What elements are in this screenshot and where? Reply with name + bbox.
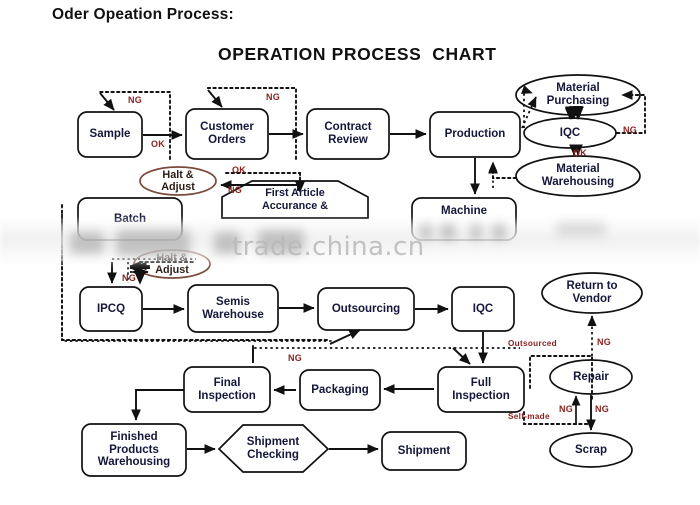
edge-label-ng-customer: NG	[266, 92, 280, 102]
node-halt-adjust-first-article[interactable]: Halt &Adjust	[140, 167, 216, 195]
edge-label-ng-scrap: NG	[595, 404, 609, 414]
node-shipment[interactable]: Shipment	[382, 432, 466, 470]
edge-label-ng-ipcq: NG	[122, 273, 136, 283]
node-packaging[interactable]: Packaging	[300, 370, 380, 410]
node-ipcq[interactable]: IPCQ	[80, 287, 142, 331]
node-iqc-mid[interactable]: IQC	[452, 287, 514, 331]
edge-label-ng-return-vendor: NG	[597, 337, 611, 347]
node-first-article[interactable]: First ArticleAccurance &	[224, 181, 366, 218]
node-material-warehousing[interactable]: MaterialWarehousing	[516, 156, 640, 196]
node-final-inspection[interactable]: FinalInspection	[184, 367, 270, 412]
node-machine[interactable]: Machine	[412, 196, 516, 226]
node-return-to-vendor[interactable]: Return toVendor	[542, 273, 642, 313]
node-iqc-incoming[interactable]: IQC	[524, 118, 616, 148]
edge-label-ok-first-article: OK	[232, 165, 246, 175]
node-scrap[interactable]: Scrap	[550, 436, 632, 464]
node-customer-orders[interactable]: CustomerOrders	[186, 109, 268, 159]
edge-label-ok-iqc-incoming: OK	[573, 148, 587, 158]
edge-label-ok-sample: OK	[151, 139, 165, 149]
node-outsourcing[interactable]: Outsourcing	[318, 288, 414, 330]
edge-label-ng-sample: NG	[128, 95, 142, 105]
node-finished-products-warehousing[interactable]: FinishedProductsWarehousing	[82, 424, 186, 476]
node-contract-review[interactable]: ContractReview	[307, 109, 389, 159]
node-sample[interactable]: Sample	[78, 112, 142, 157]
edge-label-ng-iqc-incoming: NG	[623, 125, 637, 135]
edge-label-ng-repair: NG	[559, 404, 573, 414]
node-shipment-checking[interactable]: ShipmentChecking	[228, 430, 318, 468]
edge-label-ng-final-inspection: NG	[288, 353, 302, 363]
node-production[interactable]: Production	[430, 112, 520, 157]
node-halt-adjust-ipcq[interactable]: Halt &Adjust	[134, 250, 210, 278]
flowchart-canvas: Oder Opeation Process: OPERATION PROCESS…	[0, 0, 700, 505]
edge-label-self-made: Self-made	[508, 412, 550, 421]
edge-label-ng-first-article: NG	[228, 185, 242, 195]
node-full-inspection[interactable]: FullInspection	[438, 367, 524, 412]
node-material-purchasing[interactable]: MaterialPurchasing	[516, 75, 640, 115]
node-semis-warehouse[interactable]: SemisWarehouse	[188, 285, 278, 332]
node-repair[interactable]: Repair	[550, 363, 632, 391]
node-batch[interactable]: Batch	[78, 198, 182, 240]
edge-label-outsourced: Outsourced	[508, 339, 557, 348]
